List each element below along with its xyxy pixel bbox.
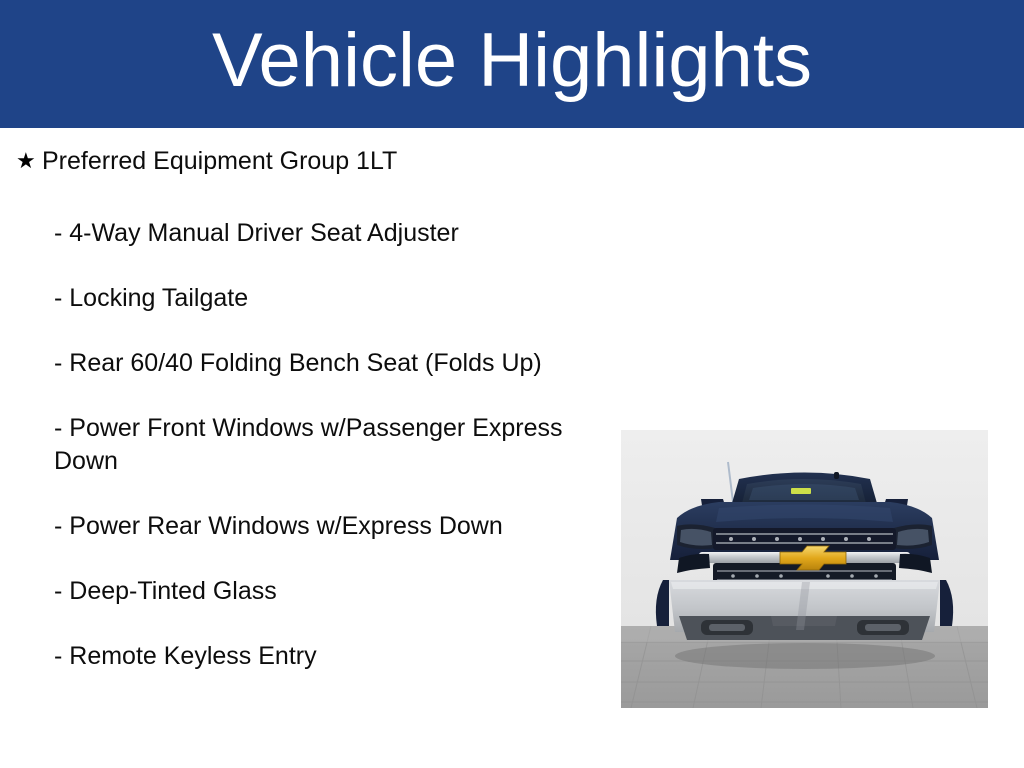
star-bullet-icon: ★ <box>12 145 42 177</box>
page-title: Vehicle Highlights <box>212 23 812 105</box>
list-item: - Rear 60/40 Folding Bench Seat (Folds U… <box>54 347 574 380</box>
list-item: - Remote Keyless Entry <box>54 640 574 673</box>
slide-root: Vehicle Highlights ★ Preferred Equipment… <box>0 0 1024 768</box>
list-item: - Power Front Windows w/Passenger Expres… <box>54 412 574 478</box>
list-item: - Locking Tailgate <box>54 282 574 315</box>
list-item: - Deep-Tinted Glass <box>54 575 574 608</box>
vehicle-highlights-list: ★ Preferred Equipment Group 1LT - 4-Way … <box>12 145 592 673</box>
vehicle-photo <box>621 430 988 708</box>
equipment-group-label: Preferred Equipment Group 1LT <box>42 145 592 177</box>
header-banner: Vehicle Highlights <box>0 0 1024 128</box>
list-item: - Power Rear Windows w/Express Down <box>54 510 574 543</box>
content-area: ★ Preferred Equipment Group 1LT - 4-Way … <box>0 128 1024 768</box>
list-item: - 4-Way Manual Driver Seat Adjuster <box>54 217 574 250</box>
vehicle-photo-image <box>621 430 988 708</box>
list-item: ★ Preferred Equipment Group 1LT <box>12 145 592 177</box>
